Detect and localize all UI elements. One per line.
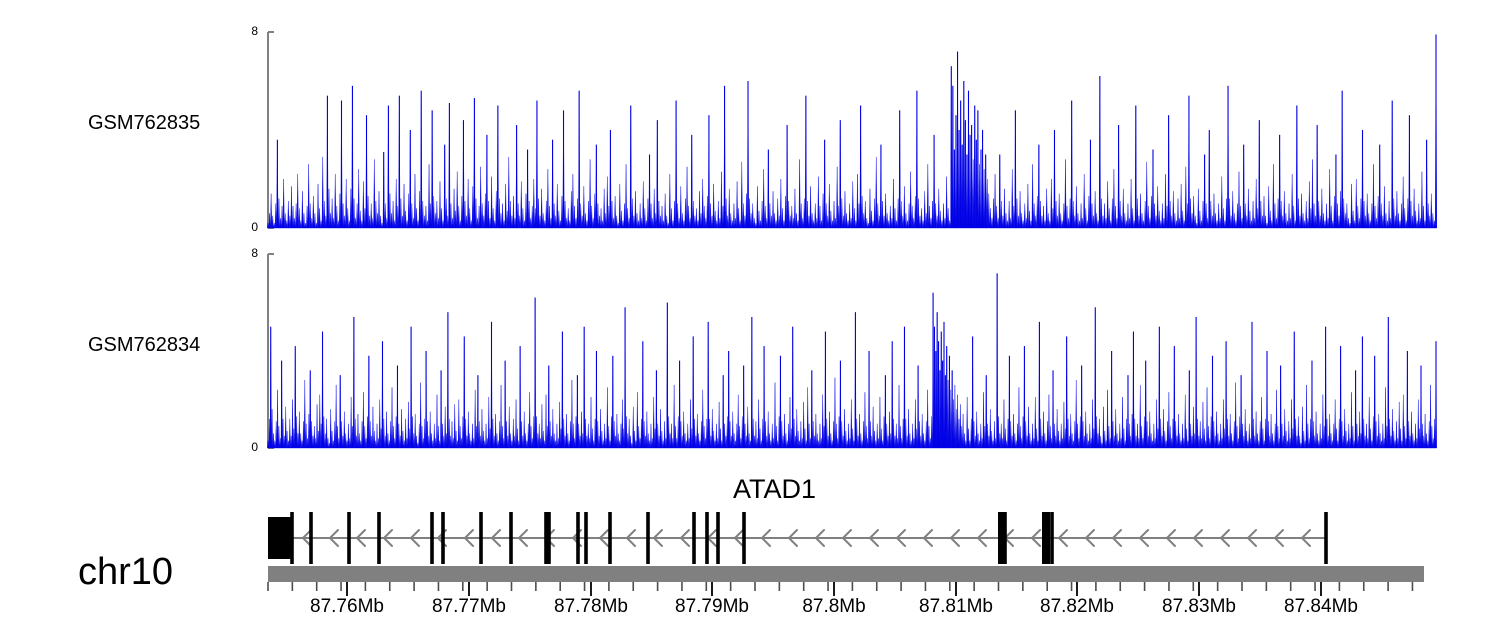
track-1-axis-min: 0: [232, 440, 258, 454]
gene-label-atad1[interactable]: ATAD1: [733, 474, 816, 505]
ruler-tick-label: 87.78Mb: [554, 596, 628, 618]
track-label-gsm762834: GSM762834: [88, 334, 200, 357]
track-0-axis-min: 0: [232, 220, 258, 234]
ruler-tick-label: 87.8Mb: [802, 596, 865, 618]
signal-track-gsm762834[interactable]: [256, 252, 1500, 452]
ruler-tick-label: 87.84Mb: [1284, 596, 1358, 618]
ruler-tick-label: 87.79Mb: [675, 596, 749, 618]
track-0-axis-max: 8: [232, 24, 258, 38]
ruler-tick-label: 87.76Mb: [310, 596, 384, 618]
ruler-tick-label: 87.77Mb: [432, 596, 506, 618]
ruler-tick-label: 87.81Mb: [919, 596, 993, 618]
genome-browser-view: GSM762835 8 0 GSM762834 8 0 ATAD1 chr10 …: [0, 0, 1500, 640]
track-0-plot-svg: [256, 30, 1500, 232]
ruler-tick-label: 87.83Mb: [1162, 596, 1236, 618]
track-1-axis-max: 8: [232, 246, 258, 260]
track-1-plot-svg: [256, 252, 1500, 452]
ruler-tick-label: 87.82Mb: [1040, 596, 1114, 618]
chromosome-label: chr10: [78, 551, 173, 594]
signal-track-gsm762835[interactable]: [256, 30, 1500, 232]
track-label-gsm762835: GSM762835: [88, 112, 200, 135]
